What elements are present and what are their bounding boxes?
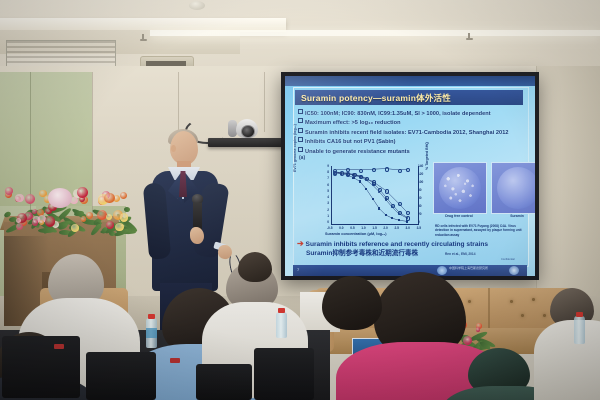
y-tick: 1 xyxy=(317,214,329,218)
chair-tag xyxy=(170,358,180,363)
dish-caption: Drug free control xyxy=(431,214,487,218)
bullet-square-icon xyxy=(298,118,303,123)
bullet-square-icon xyxy=(298,128,303,133)
panel-label: (a) xyxy=(299,155,305,161)
sprinkler-icon xyxy=(140,34,147,42)
flower-bloom xyxy=(71,224,78,231)
x-tick: 0.0 xyxy=(339,226,343,230)
y-tick: 8 xyxy=(317,170,329,174)
bullet-item: Suramin inhibits recent field isolates: … xyxy=(298,128,524,137)
dish-background xyxy=(491,162,535,214)
x-tick: -0.5 xyxy=(327,226,333,230)
flower-bloom xyxy=(15,194,24,203)
flower-bloom xyxy=(45,216,55,226)
chart-x-ticks: -0.50.00.51.01.52.02.53.03.5 xyxy=(327,226,421,230)
right-wall-panel xyxy=(536,66,600,296)
audience-shoulders xyxy=(534,320,600,400)
y2-tick: 100 xyxy=(418,180,430,184)
y2-tick: 140 xyxy=(418,164,430,168)
x-tick: 3.5 xyxy=(417,226,421,230)
x-tick: 0.5 xyxy=(350,226,354,230)
chart-y2-axis-label: % Targeted BHQ xyxy=(425,120,429,170)
confidential-mark: Confidential xyxy=(501,258,515,261)
presenter-ear xyxy=(171,145,176,152)
dose-response-chart: EV71 genome copies (log₁₀) % Targeted BH… xyxy=(307,162,433,240)
flower-bloom xyxy=(104,193,115,204)
flower-bloom xyxy=(115,223,123,231)
y2-tick: 40 xyxy=(418,204,430,208)
bullet-text: Inhibits CA16 but not PV1 (Sabin) xyxy=(305,139,396,145)
y2-tick: 20 xyxy=(418,212,430,216)
institute-logo-icon xyxy=(437,266,447,275)
bullet-text: Unable to generate resistance mutants xyxy=(305,149,410,155)
bullet-item: Maximum effect: >5 log₁₀ reduction xyxy=(298,118,524,127)
slide-bullet-list: IC50: 100nM; IC90: 830nM, IC99:1.35uM, S… xyxy=(298,109,524,156)
x-tick: 3.0 xyxy=(406,226,410,230)
slide-page-number: 7 xyxy=(297,267,299,272)
sofa-cushion-divider xyxy=(488,288,490,332)
smoke-detector-icon xyxy=(189,1,205,10)
petri-dish-icon xyxy=(439,167,481,209)
bottle-cap xyxy=(278,308,285,313)
arrow-icon: ➔ xyxy=(297,239,304,248)
chart-plot-area xyxy=(331,166,419,225)
bottle-cap xyxy=(576,312,583,317)
conference-photo-scene: Suramin potency—suramin体外活性 IC50: 100nM;… xyxy=(0,0,600,400)
chart-x-axis-label: Suramin concentration (μM, log₁₀) xyxy=(325,232,387,236)
partner-logo-icon xyxy=(509,266,519,275)
chair-back xyxy=(86,352,156,400)
chart-y-axis-label: EV71 genome copies (log₁₀) xyxy=(293,120,297,172)
petri-dish-icon xyxy=(497,167,535,209)
y-tick: 3 xyxy=(317,201,329,205)
y2-tick: 60 xyxy=(418,196,430,200)
water-bottle xyxy=(276,312,287,338)
bullet-text: Maximum effect: >5 log₁₀ reduction xyxy=(305,120,401,126)
bullet-square-icon xyxy=(298,109,303,114)
bottle-cap xyxy=(148,314,155,319)
dish-caption: Suramin xyxy=(489,214,535,218)
slide-top-band xyxy=(285,76,535,86)
flower-bloom xyxy=(86,212,93,219)
chair-back xyxy=(2,336,80,398)
foliage xyxy=(124,207,130,212)
flower-bloom xyxy=(476,327,481,332)
y-tick: 7 xyxy=(317,176,329,180)
flower-bloom xyxy=(5,187,13,195)
flower-bloom xyxy=(106,214,112,220)
x-tick: 2.0 xyxy=(383,226,387,230)
bullet-item: Unable to generate resistance mutants xyxy=(298,147,524,156)
chair-tag xyxy=(54,344,64,349)
y2-tick: 80 xyxy=(418,188,430,192)
podium-flower-arrangement xyxy=(2,186,134,236)
chart-y-ticks: 9876543210 xyxy=(317,164,329,224)
y2-tick: 120 xyxy=(418,172,430,176)
foliage xyxy=(38,227,56,232)
audience-head xyxy=(238,252,272,282)
conclusion-line-2: Suramin抑制参考毒株和近期流行毒株 xyxy=(297,250,523,259)
equipment-shelf xyxy=(208,138,290,147)
footer-org-name: 中国科学院上海巴斯德研究所 xyxy=(449,267,507,271)
y-tick: 4 xyxy=(317,195,329,199)
y-tick: 0 xyxy=(317,220,329,224)
bullet-item: IC50: 100nM; IC90: 830nM, IC99:1.35uM, S… xyxy=(298,109,524,118)
cove-light xyxy=(150,30,600,36)
bullet-square-icon xyxy=(298,137,303,142)
flower-bloom xyxy=(16,223,23,230)
bullet-text: Suramin inhibits recent field isolates: … xyxy=(305,130,509,136)
flower-bloom xyxy=(77,187,88,198)
projection-screen: Suramin potency—suramin体外活性 IC50: 100nM;… xyxy=(285,76,535,276)
camera-lens-icon xyxy=(241,125,255,138)
wall-seam xyxy=(264,72,265,132)
sprinkler-icon xyxy=(466,33,473,41)
hydrangea-bloom xyxy=(48,188,72,208)
y-tick: 2 xyxy=(317,208,329,212)
y-tick: 6 xyxy=(317,183,329,187)
bottle-label xyxy=(146,328,157,338)
y-tick: 9 xyxy=(317,164,329,168)
y-tick: 5 xyxy=(317,189,329,193)
flower-bloom xyxy=(120,192,127,199)
flower-bloom xyxy=(120,213,128,221)
assay-note: RD cells infected with EV71 Fuyang (2008… xyxy=(435,224,525,237)
dish-background xyxy=(433,162,487,214)
series-line xyxy=(332,166,418,224)
chair-back xyxy=(196,364,252,400)
microphone-head-icon xyxy=(192,194,203,203)
flower-bloom xyxy=(25,194,35,204)
chair-back xyxy=(254,348,314,400)
flower-bloom xyxy=(32,219,39,226)
presenter-hand-holding-mic xyxy=(190,227,204,244)
chart-y2-ticks: 140120100806040200 xyxy=(418,164,430,224)
flower-bloom xyxy=(465,337,472,344)
bullet-square-icon xyxy=(298,147,303,152)
x-tick: 2.5 xyxy=(394,226,398,230)
bullet-text: IC50: 100nM; IC90: 830nM, IC99:1.35uM, S… xyxy=(305,111,491,117)
slide-conclusion: ➔ Suramin inhibits reference and recentl… xyxy=(297,240,523,258)
x-tick: 1.0 xyxy=(361,226,365,230)
audience-head xyxy=(322,276,382,330)
y2-tick: 0 xyxy=(418,220,430,224)
slide-title: Suramin potency—suramin体外活性 xyxy=(295,90,523,105)
presentation-slide: Suramin potency—suramin体外活性 IC50: 100nM;… xyxy=(285,76,535,276)
conclusion-line-1: Suramin inhibits reference and recently … xyxy=(306,241,488,248)
x-tick: 1.5 xyxy=(372,226,376,230)
water-bottle xyxy=(574,316,585,344)
slide-citation: Ren et al., EMI, 2014 xyxy=(445,252,475,256)
bullet-item: Inhibits CA16 but not PV1 (Sabin) xyxy=(298,137,524,146)
